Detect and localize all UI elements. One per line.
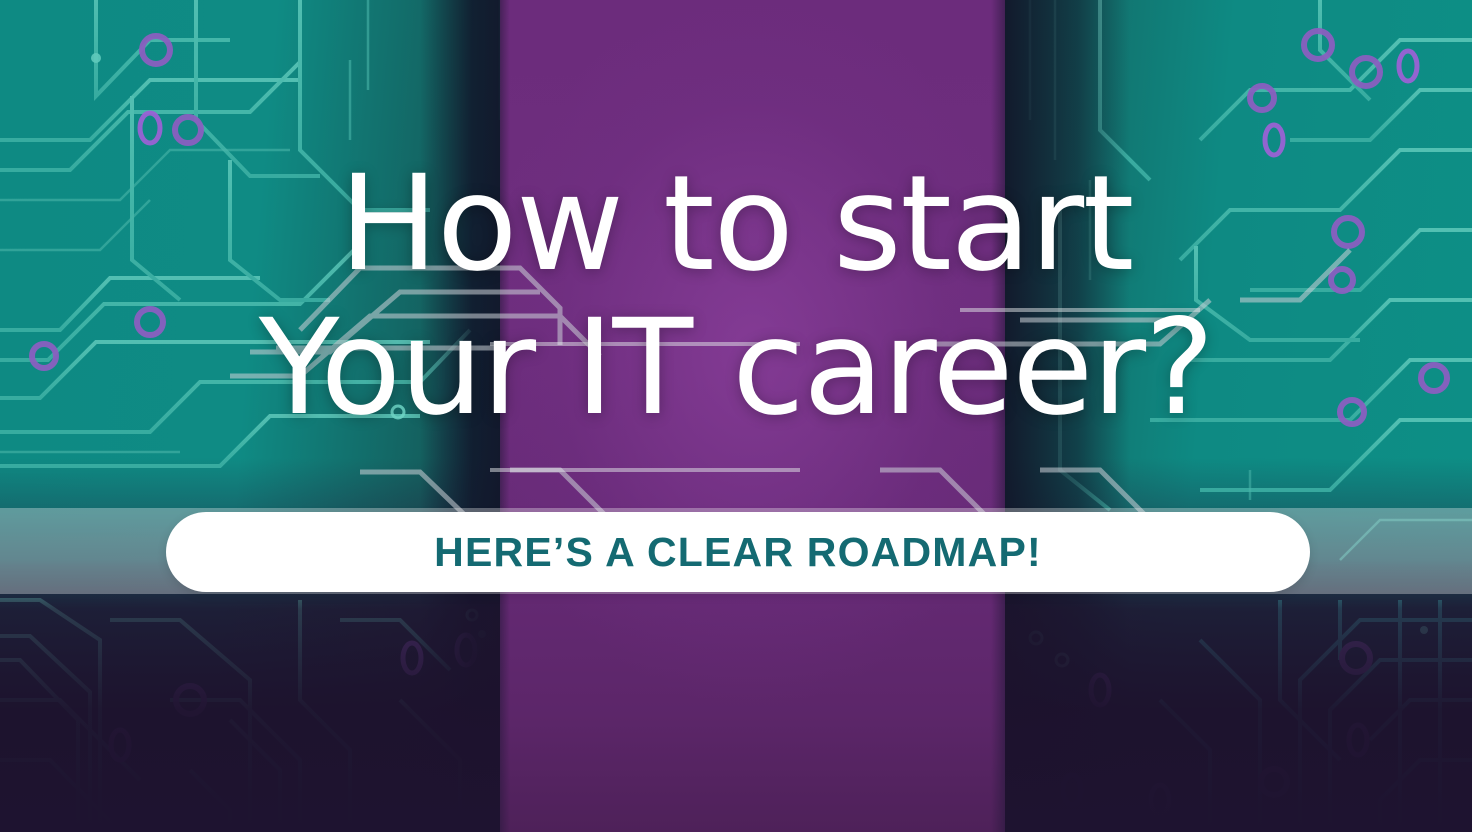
accent-lines	[0, 0, 1472, 832]
banner-root: How to start Your IT career? HERE’S A CL…	[0, 0, 1472, 832]
cta-pill[interactable]: HERE’S A CLEAR ROADMAP!	[166, 512, 1310, 592]
cta-pill-label: HERE’S A CLEAR ROADMAP!	[434, 529, 1042, 576]
